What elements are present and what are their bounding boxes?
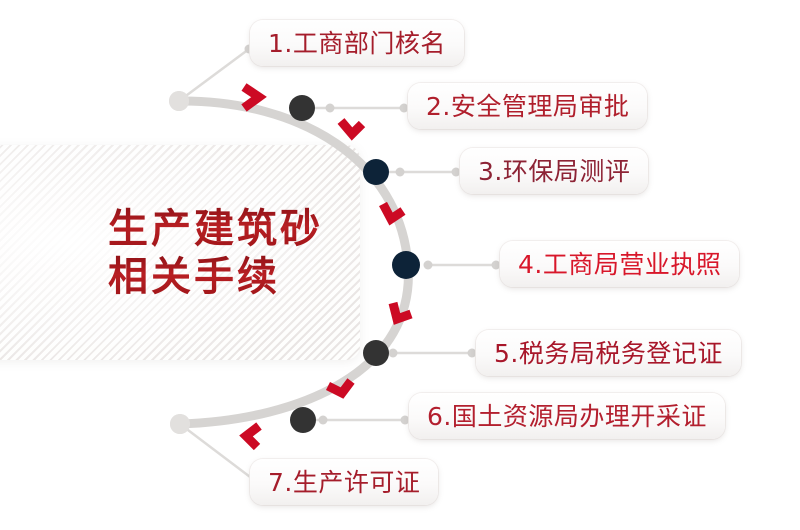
arrow-chevron-2 <box>341 121 362 134</box>
connector-dot-5 <box>389 349 398 358</box>
arrow-chevron-6 <box>246 426 259 447</box>
step-node-1[interactable] <box>169 91 189 111</box>
page-title: 生产建筑砂 相关手续 <box>108 205 408 301</box>
page-title-line-1: 生产建筑砂 <box>108 205 408 253</box>
step-box-3[interactable]: 3.环保局测评 <box>460 148 648 194</box>
connector-dot-3 <box>396 168 405 177</box>
step-node-2[interactable] <box>289 95 315 121</box>
step-node-5[interactable] <box>363 340 389 366</box>
connector-dot-6 <box>319 416 328 425</box>
step-box-7[interactable]: 7.生产许可证 <box>250 459 438 505</box>
step-label-4: 4.工商局营业执照 <box>518 252 721 277</box>
infographic-canvas: 生产建筑砂 相关手续 <box>0 0 800 530</box>
step-box-6[interactable]: 6.国土资源局办理开采证 <box>409 393 725 439</box>
step-label-7: 7.生产许可证 <box>268 470 420 495</box>
step-label-5: 5.税务局税务登记证 <box>494 341 723 366</box>
connector-dot-2 <box>326 104 335 113</box>
connector-line-1 <box>179 49 249 101</box>
step-label-6: 6.国土资源局办理开采证 <box>427 404 707 429</box>
page-title-line-2: 相关手续 <box>108 253 408 301</box>
step-box-5[interactable]: 5.税务局税务登记证 <box>476 330 741 376</box>
step-label-2: 2.安全管理局审批 <box>426 94 629 119</box>
step-node-7[interactable] <box>170 414 190 434</box>
step-box-2[interactable]: 2.安全管理局审批 <box>408 83 647 129</box>
step-box-1[interactable]: 1.工商部门核名 <box>250 20 464 66</box>
connector-dot-4 <box>424 261 433 270</box>
step-node-6[interactable] <box>290 407 316 433</box>
step-node-3[interactable] <box>363 159 389 185</box>
step-label-1: 1.工商部门核名 <box>268 31 446 56</box>
step-label-3: 3.环保局测评 <box>478 159 630 184</box>
step-box-4[interactable]: 4.工商局营业执照 <box>500 241 739 287</box>
